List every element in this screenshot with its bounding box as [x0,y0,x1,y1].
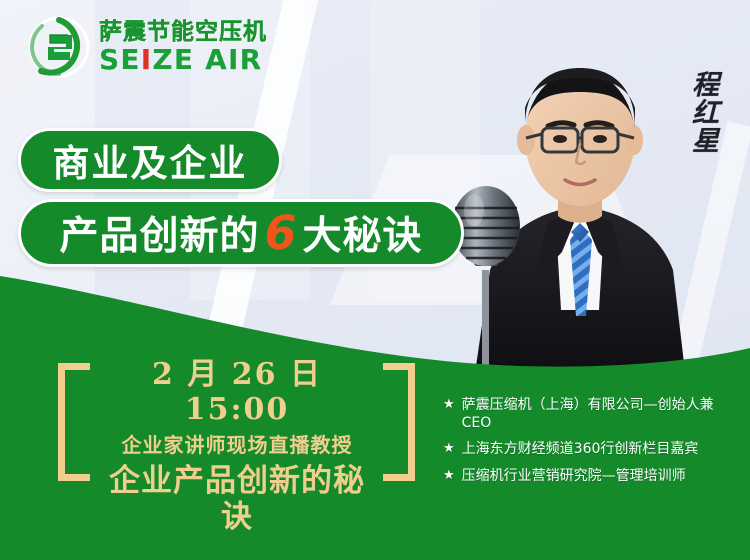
bracket-left [58,363,90,481]
brand-name-en: SEIZE AIR [99,46,267,74]
event-topic: 企业产品创新的秘诀 [94,464,380,535]
brand-name-cn: 萨震节能空压机 [99,20,267,43]
list-item: ★ 压缩机行业营销研究院—管理培训师 [443,468,743,486]
star-icon: ★ [443,441,455,458]
credential-text: 上海东方财经频道360行创新栏目嘉宾 [462,441,699,459]
event-subtitle: 企业家讲师现场直播教授 [94,433,380,457]
bracket-right [383,363,415,481]
brand-en-part2: ZE AIR [152,46,262,74]
credential-text: 萨震压缩机（上海）有限公司—创始人兼CEO [462,397,743,432]
sz-circle-logo-icon [28,16,90,78]
headline-number: 6 [259,210,302,256]
headline-line-2: 产品创新的 6 大秘诀 [18,199,464,267]
headline-line-2-before: 产品创新的 [59,205,259,261]
star-icon: ★ [443,468,455,485]
speaker-name-vertical: 程红星 [668,52,720,172]
brand-en-accent: I [141,46,153,74]
credentials-list: ★ 萨震压缩机（上海）有限公司—创始人兼CEO ★ 上海东方财经频道360行创新… [443,397,743,494]
brand-en-part1: SE [99,46,141,74]
list-item: ★ 萨震压缩机（上海）有限公司—创始人兼CEO [443,397,743,432]
headline-line-1: 商业及企业 [18,128,282,192]
headline-line-2-after: 大秘诀 [303,205,423,261]
event-text-group: 2 月 26 日 15:00 企业家讲师现场直播教授 企业产品创新的秘诀 [94,358,380,535]
promo-banner: 程红星 萨震节能空压机 SEIZE AIR 商业及企业 产品创新的 6 大秘诀 [0,0,750,560]
star-icon: ★ [443,397,455,414]
event-date-time: 2 月 26 日 15:00 [94,358,380,427]
list-item: ★ 上海东方财经频道360行创新栏目嘉宾 [443,441,743,459]
brand-logo: 萨震节能空压机 SEIZE AIR [28,16,267,78]
event-block: 2 月 26 日 15:00 企业家讲师现场直播教授 企业产品创新的秘诀 [58,358,413,488]
credential-text: 压缩机行业营销研究院—管理培训师 [462,468,686,486]
